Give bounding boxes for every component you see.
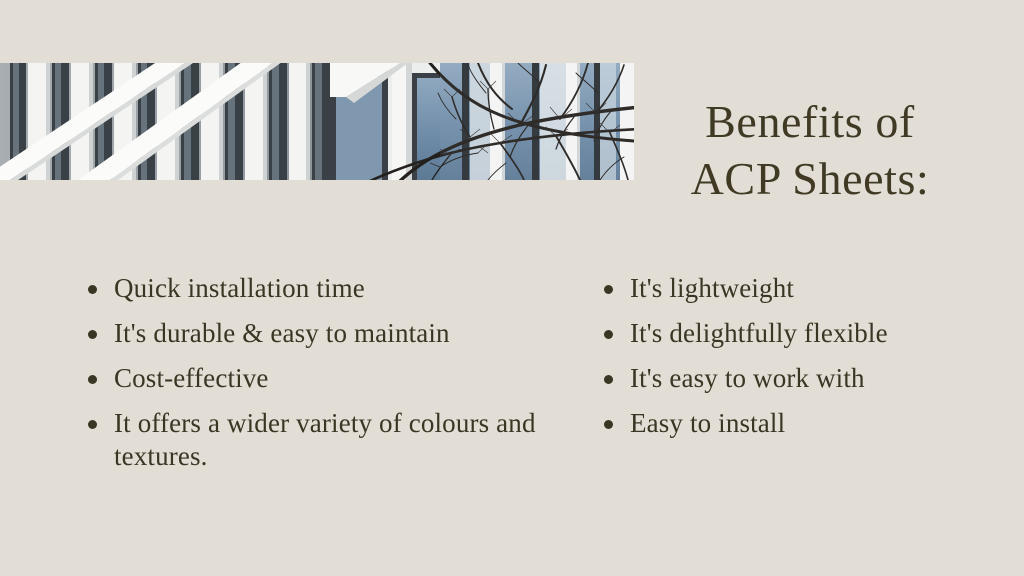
list-item-label: It's durable & easy to maintain — [114, 317, 554, 350]
list-item: It offers a wider variety of colours and… — [84, 407, 554, 473]
list-item: It's easy to work with — [600, 362, 1000, 395]
list-item-label: It's lightweight — [630, 272, 1000, 305]
list-item-label: Cost-effective — [114, 362, 554, 395]
slide-canvas: Benefits of ACP Sheets: Quick installati… — [0, 0, 1024, 576]
facade-photo — [0, 63, 634, 180]
page-title: Benefits of ACP Sheets: — [630, 93, 990, 207]
list-item-label: It's easy to work with — [630, 362, 1000, 395]
list-item: Easy to install — [600, 407, 1000, 440]
bullet-dot-icon — [88, 375, 97, 384]
bullet-dot-icon — [88, 420, 97, 429]
bullet-dot-icon — [604, 285, 613, 294]
list-item: Cost-effective — [84, 362, 554, 395]
bullet-dot-icon — [88, 285, 97, 294]
bullet-dot-icon — [604, 375, 613, 384]
list-item: It's durable & easy to maintain — [84, 317, 554, 350]
list-item: It's delightfully flexible — [600, 317, 1000, 350]
benefits-columns: Quick installation time It's durable & e… — [0, 272, 1024, 532]
title-line-1: Benefits of — [630, 93, 990, 150]
facade-photo-illustration — [0, 63, 634, 180]
list-item-label: It's delightfully flexible — [630, 317, 1000, 350]
list-item: It's lightweight — [600, 272, 1000, 305]
benefits-list-left: Quick installation time It's durable & e… — [84, 272, 554, 473]
list-item-label: Easy to install — [630, 407, 1000, 440]
benefits-column-right: It's lightweight It's delightfully flexi… — [600, 272, 1000, 440]
bullet-dot-icon — [604, 420, 613, 429]
benefits-list-right: It's lightweight It's delightfully flexi… — [600, 272, 1000, 440]
title-line-2: ACP Sheets: — [630, 150, 990, 207]
list-item-label: It offers a wider variety of colours and… — [114, 407, 554, 473]
bullet-dot-icon — [88, 330, 97, 339]
bullet-dot-icon — [604, 330, 613, 339]
list-item-label: Quick installation time — [114, 272, 554, 305]
list-item: Quick installation time — [84, 272, 554, 305]
benefits-column-left: Quick installation time It's durable & e… — [84, 272, 554, 473]
